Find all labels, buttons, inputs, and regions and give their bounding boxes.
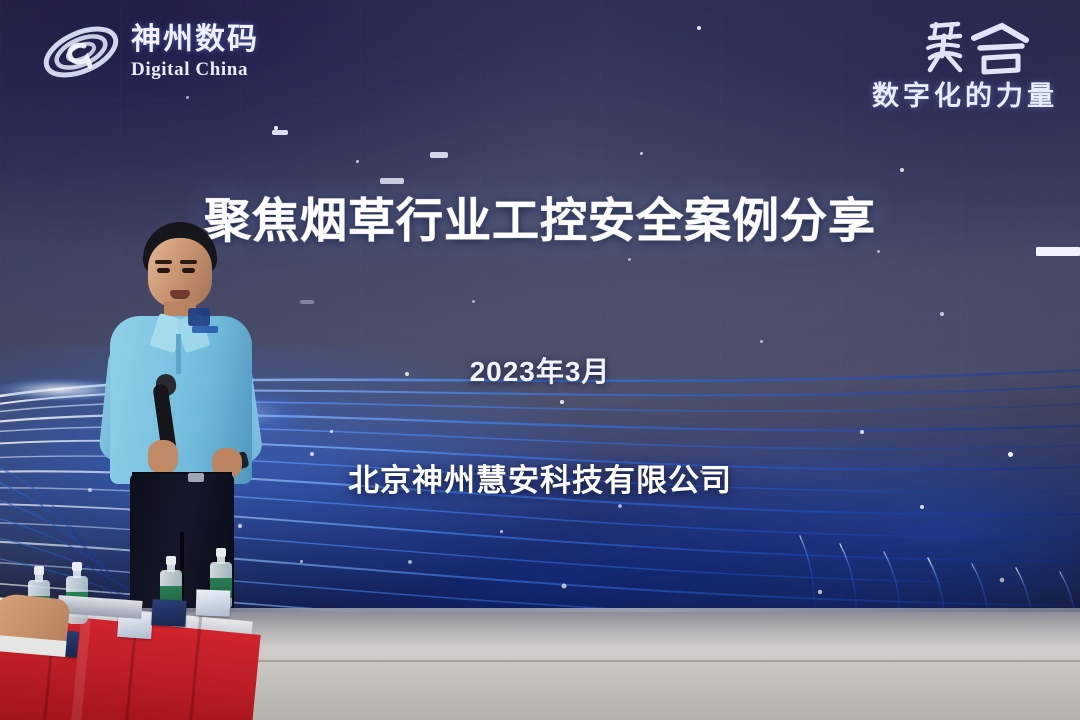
bottle-neck	[217, 556, 225, 564]
digital-china-logo: 神州数码 Digital China	[40, 16, 259, 88]
table-name-card	[196, 589, 231, 616]
speaker-shirt-logo-icon	[188, 308, 210, 326]
bottle-cap	[34, 566, 44, 575]
digital-china-name-cn: 神州数码	[131, 25, 259, 55]
conference-stage-photo: 聚焦烟草行业工控安全案例分享 2023年3月 北京神州慧安科技有限公司 神州数码…	[0, 0, 1080, 720]
speaker-belt-buckle	[188, 473, 204, 482]
event-brand-logo: 数字化的力量	[872, 14, 1058, 113]
speaker-eye-left	[157, 268, 170, 273]
juhe-calligraphy-icon	[923, 14, 1058, 80]
bottle-cap	[216, 548, 226, 557]
bottle-neck	[73, 570, 81, 578]
digital-china-name-en: Digital China	[131, 60, 259, 79]
speaker-mouth	[170, 290, 190, 299]
speaker-hand-left	[148, 440, 178, 474]
bottle-cap	[72, 562, 82, 571]
speaker-shirt-logo-text	[192, 326, 218, 333]
digital-china-swoosh-icon	[40, 16, 122, 88]
speaker-brow-right	[180, 260, 197, 264]
speaker-brow-left	[155, 260, 172, 264]
bottle-neck	[167, 564, 175, 572]
speaker-eye-right	[182, 268, 195, 273]
bottle-neck	[35, 574, 43, 582]
bottle-cap	[166, 556, 176, 565]
table-name-card	[151, 599, 186, 627]
speaker-shirt-placket	[176, 334, 181, 374]
